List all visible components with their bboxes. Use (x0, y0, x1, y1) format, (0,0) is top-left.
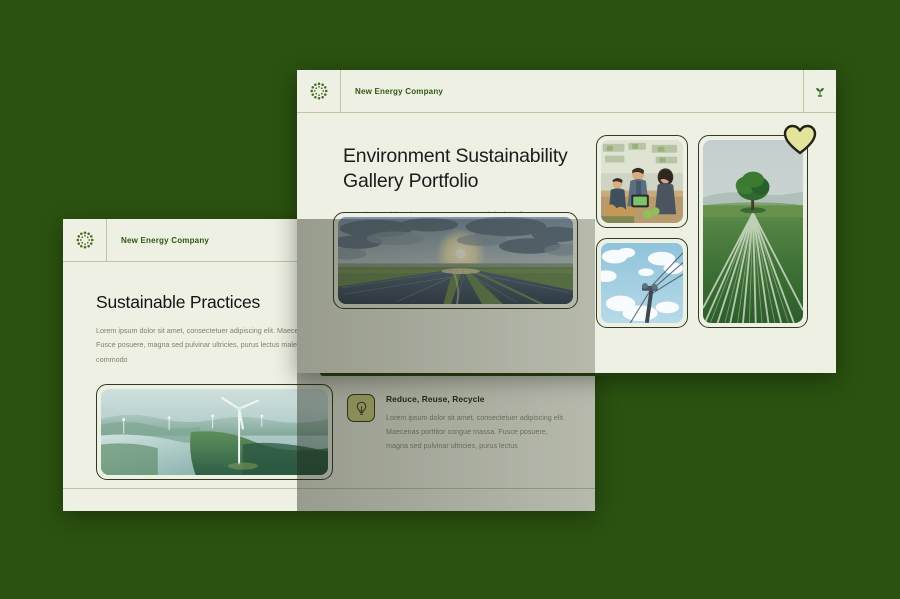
image-gallery (596, 135, 808, 328)
sprout-leaf-icon (812, 83, 828, 99)
solar-panel-farm-photo-frame[interactable] (333, 212, 578, 309)
feature-title: Reduce, Reuse, Recycle (386, 394, 569, 404)
front-brand-cell: New Energy Company (341, 70, 803, 112)
wind-turbines-river-photo-frame[interactable] (96, 384, 333, 480)
gallery-right-column (698, 135, 808, 328)
front-brand-name: New Energy Company (355, 87, 443, 96)
front-slide[interactable]: New Energy Company Environment Sustainab… (297, 70, 836, 373)
presentation-mockup-canvas: New Energy Company Sustainable Practices… (0, 0, 900, 599)
family-grocery-shopping-photo-frame[interactable] (596, 135, 688, 228)
wind-turbines-river-photo (101, 389, 328, 475)
sun-burst-logo-icon (309, 81, 329, 101)
back-slide-footer-rule (63, 488, 595, 489)
front-logo-cell (297, 70, 341, 112)
feature-reduce-reuse-recycle[interactable]: Reduce, Reuse, Recycle Lorem ipsum dolor… (347, 384, 569, 480)
lightbulb-icon (353, 400, 370, 417)
lone-tree-field-photo (703, 140, 803, 323)
front-slide-header: New Energy Company (297, 70, 836, 113)
feature-description: Lorem ipsum dolor sit amet, consectetuer… (386, 411, 569, 453)
sprout-nav-button[interactable] (803, 70, 836, 112)
lone-tree-field-photo-frame[interactable] (698, 135, 808, 328)
heart-icon (783, 124, 817, 155)
solar-panel-farm-photo (338, 217, 573, 304)
back-slide-content-row: Reduce, Reuse, Recycle Lorem ipsum dolor… (63, 384, 595, 480)
power-lines-sky-photo (601, 243, 683, 323)
back-logo-cell (63, 219, 107, 261)
sun-burst-logo-icon (75, 230, 95, 250)
power-lines-sky-photo-frame[interactable] (596, 238, 688, 328)
back-brand-name: New Energy Company (121, 236, 209, 245)
front-slide-title: Environment Sustainability Gallery Portf… (343, 144, 578, 194)
lightbulb-icon-tile (347, 394, 375, 422)
heart-badge[interactable] (783, 124, 817, 155)
gallery-left-column (596, 135, 688, 328)
family-grocery-shopping-photo (601, 140, 683, 223)
